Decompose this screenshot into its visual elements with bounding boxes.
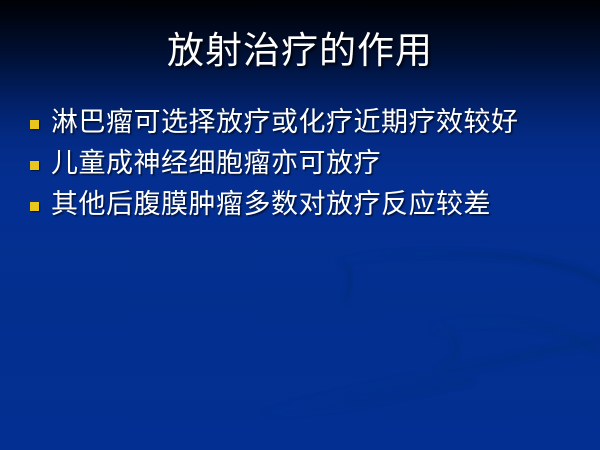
- square-bullet-icon: [30, 202, 39, 211]
- presentation-slide: 放射治疗的作用 淋巴瘤可选择放疗或化疗近期疗效较好 儿童成神经细胞瘤亦可放疗 其…: [0, 0, 600, 450]
- square-bullet-icon: [30, 161, 39, 170]
- list-item[interactable]: 淋巴瘤可选择放疗或化疗近期疗效较好: [30, 103, 575, 144]
- slide-body-list: 淋巴瘤可选择放疗或化疗近期疗效较好 儿童成神经细胞瘤亦可放疗 其他后腹膜肿瘤多数…: [30, 103, 575, 226]
- slide-title: 放射治疗的作用: [0, 29, 600, 75]
- list-item-label: 儿童成神经细胞瘤亦可放疗: [51, 144, 575, 182]
- list-item-label: 淋巴瘤可选择放疗或化疗近期疗效较好: [51, 103, 575, 141]
- list-item[interactable]: 其他后腹膜肿瘤多数对放疗反应较差: [30, 185, 575, 226]
- list-item[interactable]: 儿童成神经细胞瘤亦可放疗: [30, 144, 575, 185]
- list-item-label: 其他后腹膜肿瘤多数对放疗反应较差: [51, 185, 575, 223]
- square-bullet-icon: [30, 120, 39, 129]
